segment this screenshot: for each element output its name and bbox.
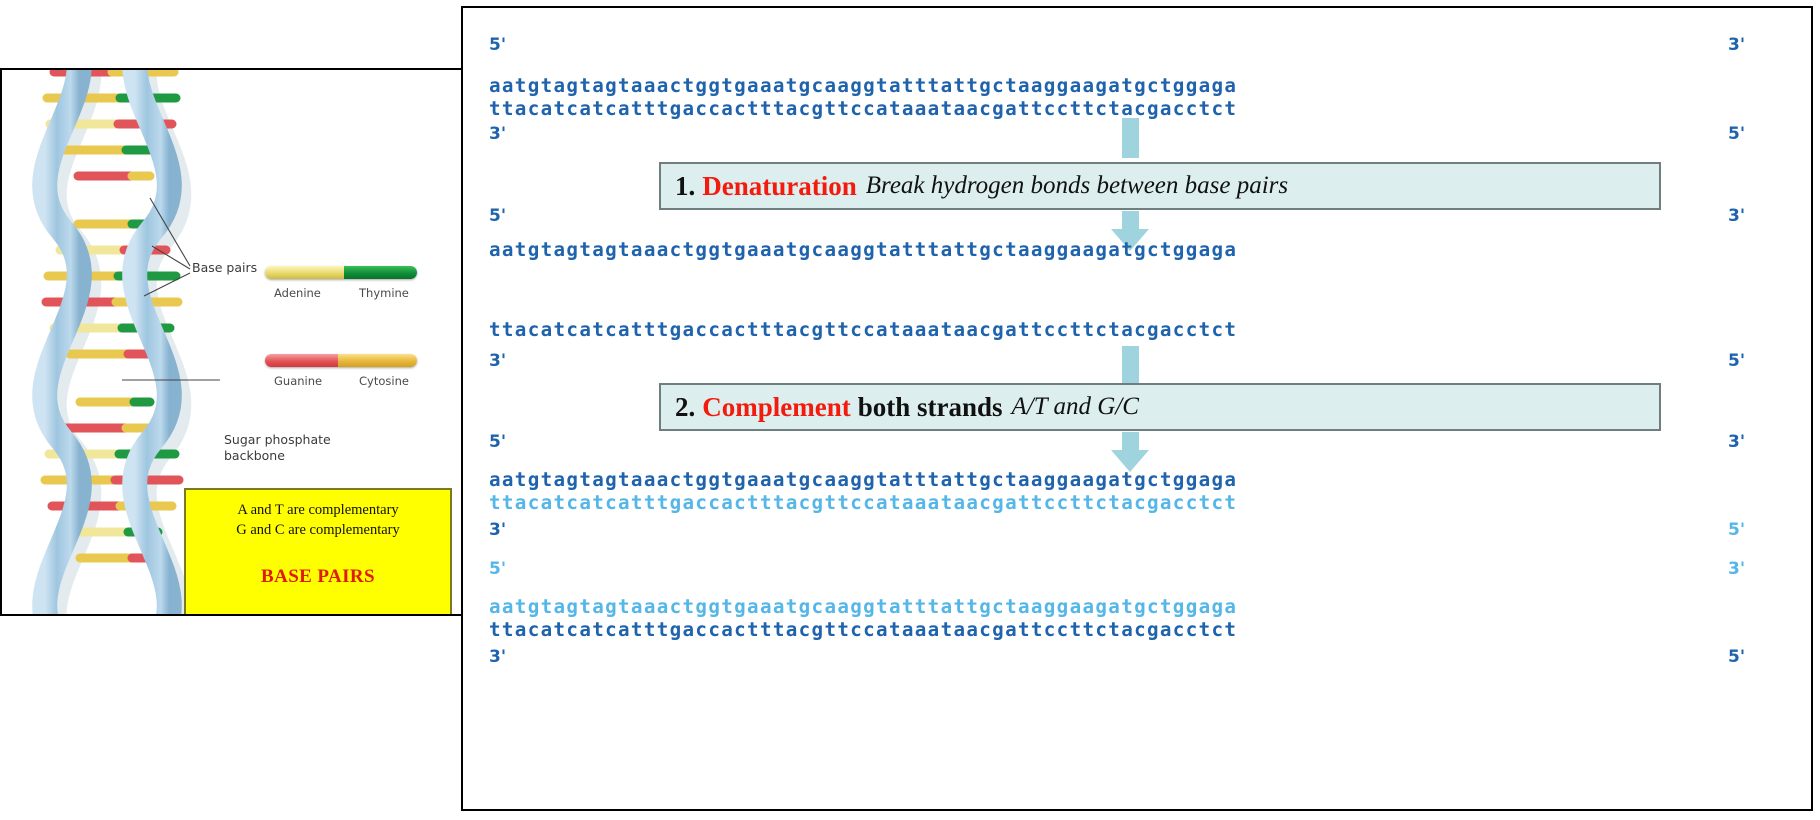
tick-3prime-block1-topright: 3' [1728, 35, 1745, 55]
backbone-line-1: Sugar phosphate [224, 432, 331, 448]
dna-illustration-panel: Base pairs Adenine Thymine Guanine Cytos… [0, 68, 470, 616]
tick-5prime-block3-right: 5' [1728, 351, 1745, 371]
tick-5prime-block4-bottomright: 5' [1728, 520, 1745, 540]
complementary-line-1: A and T are complementary [186, 501, 450, 521]
tick-5prime-block4-topleft: 5' [489, 432, 506, 452]
tick-3prime-block2-right: 3' [1728, 206, 1745, 226]
tick-5prime-block5-topleft: 5' [489, 559, 506, 579]
base-pairs-callout-box: A and T are complementary G and C are co… [184, 488, 452, 616]
sequence-new-bottom-strand-duplex-a: ttacatcatcatttgaccactttacgttccataaataacg… [489, 491, 1237, 514]
base-pair-guanine-cytosine-bar [265, 354, 417, 367]
step-1-number: 1. [675, 171, 695, 202]
pcr-denaturation-figure: Base pairs Adenine Thymine Guanine Cytos… [0, 0, 1820, 820]
thymine-segment [344, 266, 417, 279]
tick-5prime-block1-bottomright: 5' [1728, 124, 1745, 144]
cytosine-label: Cytosine [359, 374, 409, 388]
guanine-label: Guanine [274, 374, 322, 388]
complementary-line-2: G and C are complementary [186, 521, 450, 541]
pcr-steps-panel: 5' 3' aatgtagtagtaaactggtgaaatgcaaggtatt… [461, 6, 1813, 811]
thymine-label: Thymine [359, 286, 409, 300]
sequence-top-strand-block1: aatgtagtagtaaactggtgaaatgcaaggtatttattgc… [489, 74, 1237, 97]
tick-3prime-block1-bottomleft: 3' [489, 124, 506, 144]
tick-5prime-block5-bottomright: 5' [1728, 647, 1745, 667]
backbone-line-2: backbone [224, 448, 331, 464]
step-1-description: Break hydrogen bonds between base pairs [866, 172, 1288, 200]
step-2-keyword-tail: both strands [858, 392, 1003, 423]
sequence-bottom-strand-block1: ttacatcatcatttgaccactttacgttccataaataacg… [489, 97, 1237, 120]
cytosine-segment [338, 354, 417, 367]
step-box-complement: 2. Complement both strands A/T and G/C [659, 383, 1661, 431]
tick-3prime-block4-topright: 3' [1728, 432, 1745, 452]
tick-3prime-block5-bottomleft: 3' [489, 647, 506, 667]
tick-5prime-block1-topleft: 5' [489, 35, 506, 55]
base-pairs-label: Base pairs [192, 260, 257, 275]
sequence-bottom-strand-separated: ttacatcatcatttgaccactttacgttccataaataacg… [489, 318, 1237, 341]
step-box-denaturation: 1. Denaturation Break hydrogen bonds bet… [659, 162, 1661, 210]
tick-5prime-block2-left: 5' [489, 206, 506, 226]
guanine-segment [265, 354, 338, 367]
sequence-top-strand-separated: aatgtagtagtaaactggtgaaatgcaaggtatttattgc… [489, 238, 1237, 261]
step-2-keyword: Complement [702, 392, 850, 423]
step-2-description: A/T and G/C [1012, 393, 1139, 421]
base-pairs-title: BASE PAIRS [186, 566, 450, 588]
adenine-segment [265, 266, 344, 279]
tick-3prime-block4-bottomleft: 3' [489, 520, 506, 540]
step-2-number: 2. [675, 392, 695, 423]
step-1-keyword: Denaturation [702, 171, 857, 202]
sugar-phosphate-backbone-label: Sugar phosphate backbone [224, 432, 331, 464]
base-pair-adenine-thymine-bar [265, 266, 417, 279]
tick-3prime-block3-left: 3' [489, 351, 506, 371]
sequence-new-top-strand-duplex-b: aatgtagtagtaaactggtgaaatgcaaggtatttattgc… [489, 595, 1237, 618]
tick-3prime-block5-topright: 3' [1728, 559, 1745, 579]
sequence-bottom-strand-duplex-b: ttacatcatcatttgaccactttacgttccataaataacg… [489, 618, 1237, 641]
sequence-top-strand-duplex-a: aatgtagtagtaaactggtgaaatgcaaggtatttattgc… [489, 468, 1237, 491]
adenine-label: Adenine [274, 286, 321, 300]
